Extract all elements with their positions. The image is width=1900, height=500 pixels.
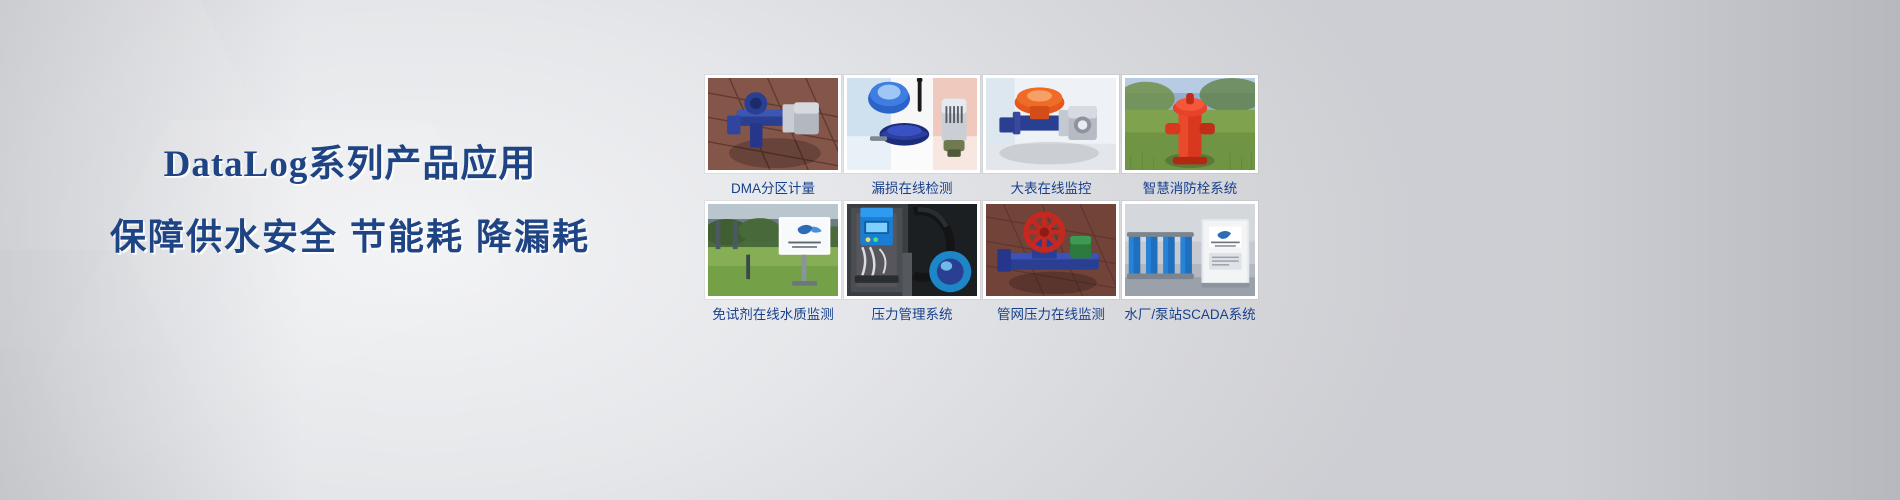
leak-logger-icon[interactable] [844, 75, 980, 173]
product-card[interactable]: 大表在线监控 [983, 75, 1119, 197]
large-meter-icon[interactable] [983, 75, 1119, 173]
headline-line-2: 保障供水安全 节能耗 降漏耗 [0, 219, 700, 255]
product-caption: 水厂/泵站SCADA系统 [1122, 308, 1258, 323]
product-grid: DMA分区计量 [705, 75, 1258, 323]
pressure-management-icon[interactable] [844, 201, 980, 299]
product-card[interactable]: 水厂/泵站SCADA系统 [1122, 201, 1258, 323]
product-caption: DMA分区计量 [705, 182, 841, 197]
valve-on-brick-icon[interactable] [705, 75, 841, 173]
product-caption: 智慧消防栓系统 [1122, 182, 1258, 197]
product-caption: 管网压力在线监测 [983, 308, 1119, 323]
product-caption: 压力管理系统 [844, 308, 980, 323]
product-card[interactable]: 管网压力在线监测 [983, 201, 1119, 323]
product-caption: 大表在线监控 [983, 182, 1119, 197]
product-card[interactable]: 智慧消防栓系统 [1122, 75, 1258, 197]
scada-cabinet-icon[interactable] [1122, 201, 1258, 299]
product-card[interactable]: 免试剂在线水质监测 [705, 201, 841, 323]
network-pressure-icon[interactable] [983, 201, 1119, 299]
smart-hydrant-icon[interactable] [1122, 75, 1258, 173]
hexagon-watermark-3 [0, 250, 240, 500]
product-application-banner: DataLog系列产品应用 保障供水安全 节能耗 降漏耗 [0, 0, 1900, 500]
product-card[interactable]: 漏损在线检测 [844, 75, 980, 197]
product-caption: 免试剂在线水质监测 [705, 308, 841, 323]
water-quality-station-icon[interactable] [705, 201, 841, 299]
product-card[interactable]: 压力管理系统 [844, 201, 980, 323]
banner-headline: DataLog系列产品应用 保障供水安全 节能耗 降漏耗 [0, 146, 700, 255]
product-caption: 漏损在线检测 [844, 182, 980, 197]
product-card[interactable]: DMA分区计量 [705, 75, 841, 197]
headline-line-1: DataLog系列产品应用 [0, 146, 700, 183]
